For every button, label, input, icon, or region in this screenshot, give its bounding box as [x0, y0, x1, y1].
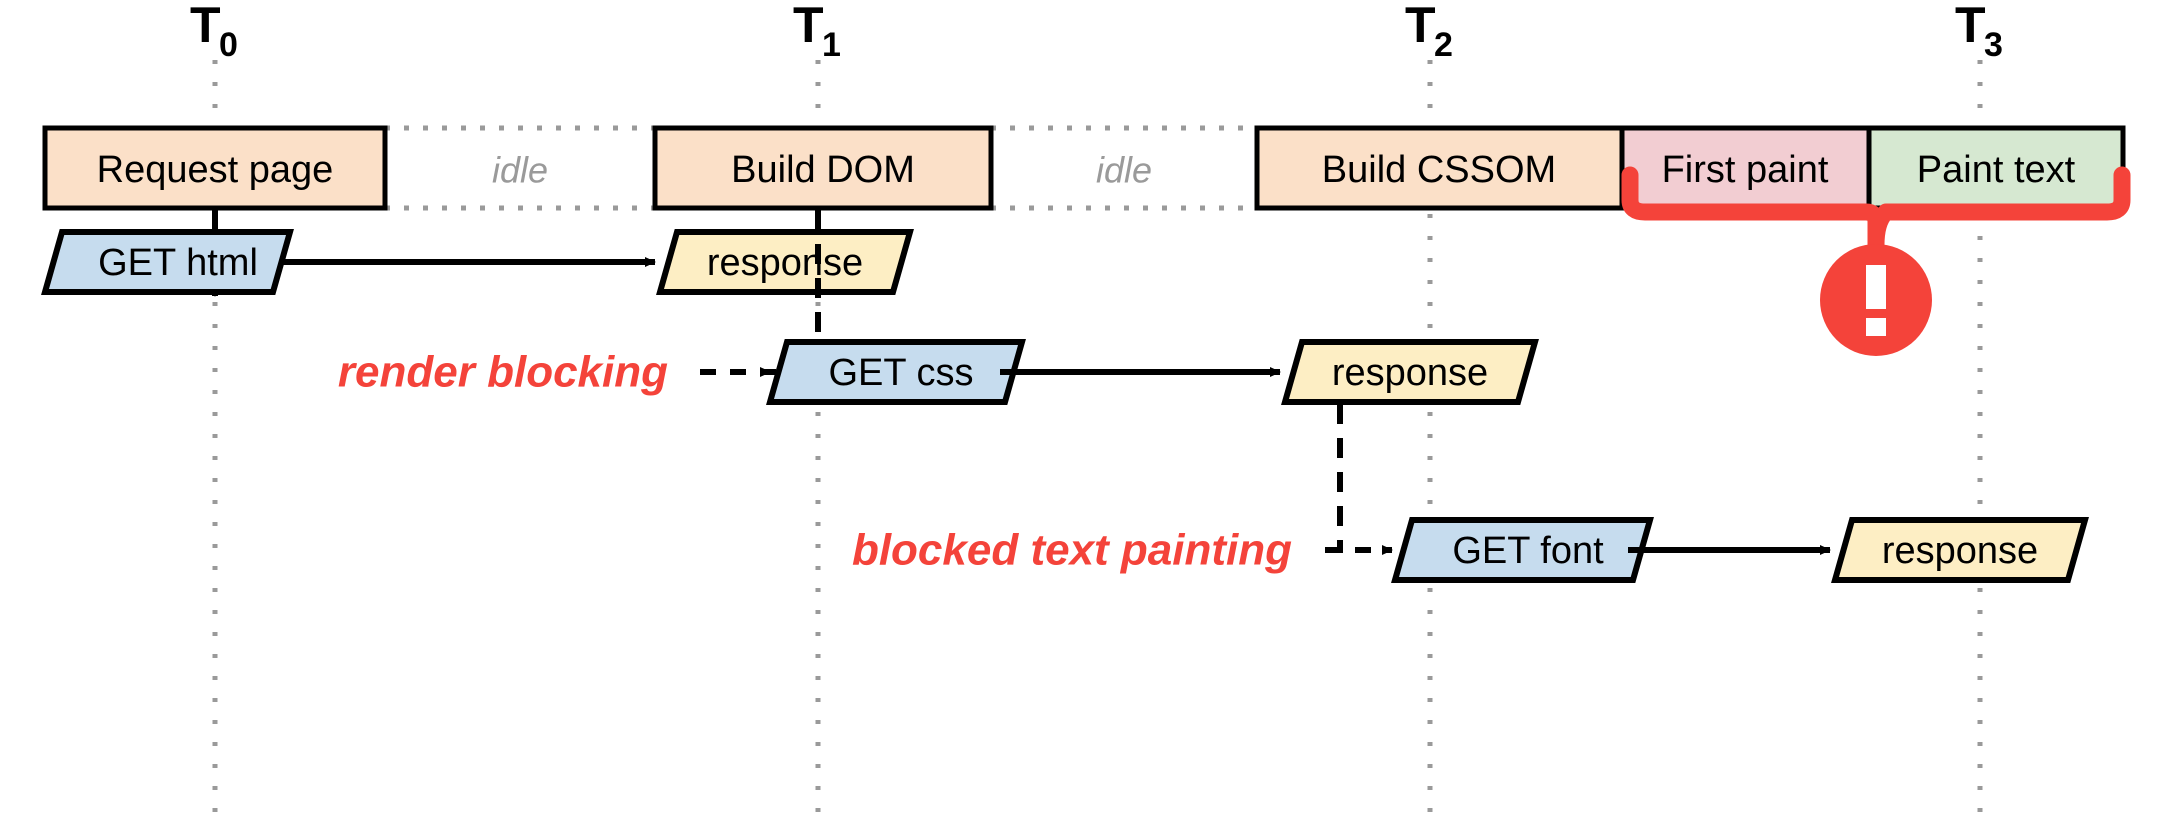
- timeline-bar: Request page idle Build DOM idle Build C…: [45, 128, 2123, 208]
- font-response[interactable]: response: [1835, 520, 2085, 580]
- idle-label-2: idle: [1096, 150, 1152, 191]
- tick-label-t2-base: T: [1405, 0, 1436, 53]
- get-html-label: GET html: [98, 242, 258, 284]
- css-response-label: response: [1332, 352, 1488, 394]
- tick-label-t0-sub: 0: [219, 26, 238, 64]
- timeline-segment-paint-text[interactable]: Paint text: [1869, 128, 2123, 208]
- exclamation-dot-icon: [1866, 318, 1886, 336]
- timeline-segment-build-cssom[interactable]: Build CSSOM: [1257, 128, 1622, 208]
- network-row-css: render blocking GET css response: [338, 210, 1535, 402]
- critical-rendering-path-diagram: T 0 T 1 T 2 T 3 Request page idle: [0, 0, 2177, 824]
- timeline-segment-request-page[interactable]: Request page: [45, 128, 385, 208]
- get-css-request[interactable]: GET css: [770, 342, 1022, 402]
- tick-label-t1-base: T: [793, 0, 824, 53]
- idle-label-1: idle: [492, 150, 548, 191]
- render-blocking-annotation: render blocking: [338, 348, 668, 397]
- timeline-tick-labels: T 0 T 1 T 2 T 3: [190, 0, 2003, 64]
- timeline-segment-first-paint[interactable]: First paint: [1622, 128, 1869, 208]
- network-row-font: blocked text painting GET font response: [852, 404, 2085, 580]
- css-response-to-get-font-dash: [1332, 404, 1340, 550]
- font-response-label: response: [1882, 530, 2038, 572]
- exclamation-stem-icon: [1866, 265, 1886, 309]
- get-html-request[interactable]: GET html: [45, 232, 290, 292]
- tick-label-t0-base: T: [190, 0, 221, 53]
- get-font-label: GET font: [1452, 530, 1604, 572]
- diagram-canvas: T 0 T 1 T 2 T 3 Request page idle: [0, 0, 2177, 824]
- tick-label-t3-sub: 3: [1984, 26, 2003, 64]
- request-page-label: Request page: [97, 149, 334, 191]
- css-response[interactable]: response: [1285, 342, 1535, 402]
- tick-label-t2-sub: 2: [1434, 26, 1453, 64]
- blocked-text-painting-annotation: blocked text painting: [852, 526, 1292, 575]
- build-cssom-label: Build CSSOM: [1322, 149, 1556, 191]
- network-row-html: GET html response: [45, 210, 910, 296]
- timeline-segment-build-dom[interactable]: Build DOM: [655, 128, 991, 208]
- html-response-label: response: [707, 242, 863, 284]
- first-paint-label: First paint: [1662, 149, 1829, 191]
- html-response[interactable]: response: [660, 232, 910, 292]
- tick-label-t1-sub: 1: [822, 26, 841, 64]
- tick-label-t3-base: T: [1955, 0, 1986, 53]
- paint-text-label: Paint text: [1917, 149, 2076, 191]
- get-font-request[interactable]: GET font: [1395, 520, 1650, 580]
- build-dom-label: Build DOM: [731, 149, 915, 191]
- get-css-label: GET css: [829, 352, 974, 394]
